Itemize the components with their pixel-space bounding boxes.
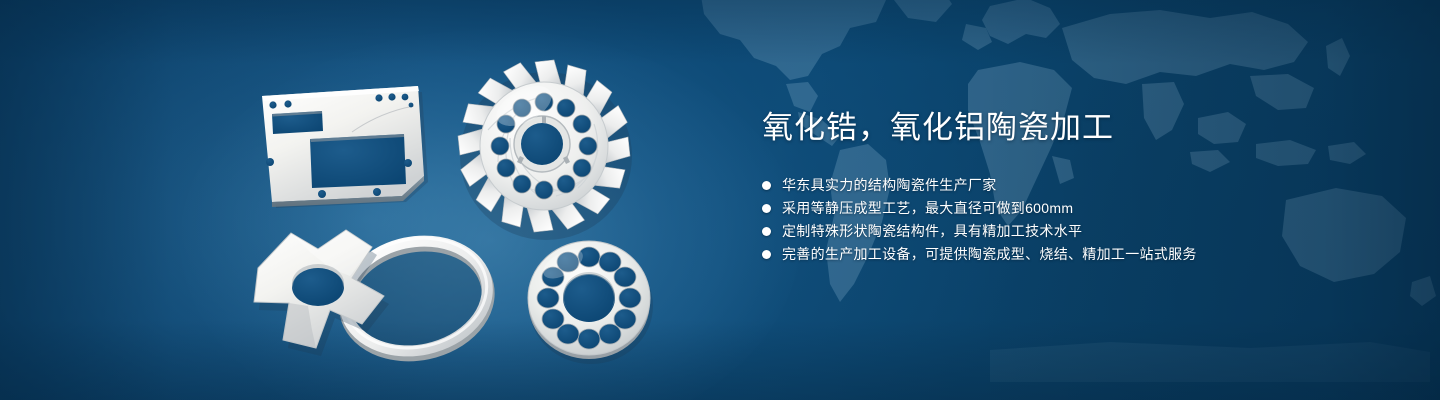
bullet-dot-icon bbox=[762, 204, 771, 213]
feature-text: 完善的生产加工设备，可提供陶瓷成型、烧结、精加工一站式服务 bbox=[782, 243, 1197, 266]
bullet-dot-icon bbox=[762, 227, 771, 236]
feature-text: 定制特殊形状陶瓷结构件，具有精加工技术水平 bbox=[782, 220, 1082, 243]
list-item: 华东具实力的结构陶瓷件生产厂家 bbox=[762, 174, 1382, 197]
feature-list: 华东具实力的结构陶瓷件生产厂家 采用等静压成型工艺，最大直径可做到600mm 定… bbox=[762, 174, 1382, 266]
feature-text: 华东具实力的结构陶瓷件生产厂家 bbox=[782, 174, 997, 197]
bullet-dot-icon bbox=[762, 181, 771, 190]
ceramic-mounting-plate bbox=[262, 86, 428, 208]
ceramic-products-photo bbox=[0, 0, 720, 400]
ceramic-impeller-disc bbox=[458, 60, 632, 240]
bullet-dot-icon bbox=[762, 250, 771, 259]
banner-copy-block: 氧化锆，氧化铝陶瓷加工 华东具实力的结构陶瓷件生产厂家 采用等静压成型工艺，最大… bbox=[762, 108, 1382, 266]
list-item: 采用等静压成型工艺，最大直径可做到600mm bbox=[762, 197, 1382, 220]
list-item: 定制特殊形状陶瓷结构件，具有精加工技术水平 bbox=[762, 220, 1382, 243]
feature-text: 采用等静压成型工艺，最大直径可做到600mm bbox=[782, 197, 1073, 220]
ceramic-perforated-disc bbox=[528, 241, 653, 364]
page-title: 氧化锆，氧化铝陶瓷加工 bbox=[762, 108, 1382, 148]
ceramic-processing-banner: 氧化锆，氧化铝陶瓷加工 华东具实力的结构陶瓷件生产厂家 采用等静压成型工艺，最大… bbox=[0, 0, 1440, 400]
list-item: 完善的生产加工设备，可提供陶瓷成型、烧结、精加工一站式服务 bbox=[762, 243, 1382, 266]
